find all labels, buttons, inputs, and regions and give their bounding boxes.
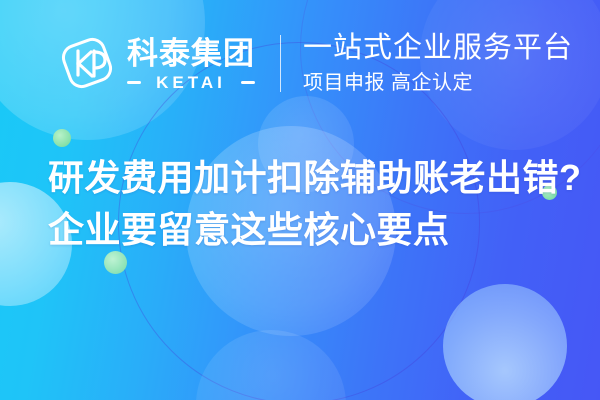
brand-logo: 科泰集团 KETAI: [58, 34, 255, 92]
light-blob-bottom-right: [443, 284, 567, 400]
banner-header: 科泰集团 KETAI 一站式企业服务平台 项目申报 高企认定: [0, 0, 600, 126]
brand-wordmark: 科泰集团 KETAI: [127, 38, 255, 91]
ketai-diamond-monogram-icon: [58, 34, 116, 92]
tagline-secondary: 项目申报 高企认定: [303, 71, 573, 95]
brand-name-en: KETAI: [146, 74, 236, 91]
promo-banner: 科泰集团 KETAI 一站式企业服务平台 项目申报 高企认定 研发费用加计扣除辅…: [0, 0, 600, 400]
light-blob-bottom-left: [196, 330, 346, 400]
brand-name-en-row: KETAI: [127, 74, 255, 91]
green-dot-upper-left: [53, 129, 71, 147]
wordmark-rule-right: [241, 81, 255, 84]
headline-block: 研发费用加计扣除辅助账老出错? 企业要留意这些核心要点: [48, 152, 568, 256]
wordmark-rule-left: [127, 81, 141, 84]
headline-line-1: 研发费用加计扣除辅助账老出错?: [48, 152, 568, 204]
headline-line-2: 企业要留意这些核心要点: [48, 204, 568, 256]
brand-name-cn: 科泰集团: [127, 38, 255, 69]
brand-tagline: 一站式企业服务平台 项目申报 高企认定: [303, 32, 573, 94]
tagline-primary: 一站式企业服务平台: [303, 32, 573, 64]
header-vertical-divider: [280, 35, 281, 92]
